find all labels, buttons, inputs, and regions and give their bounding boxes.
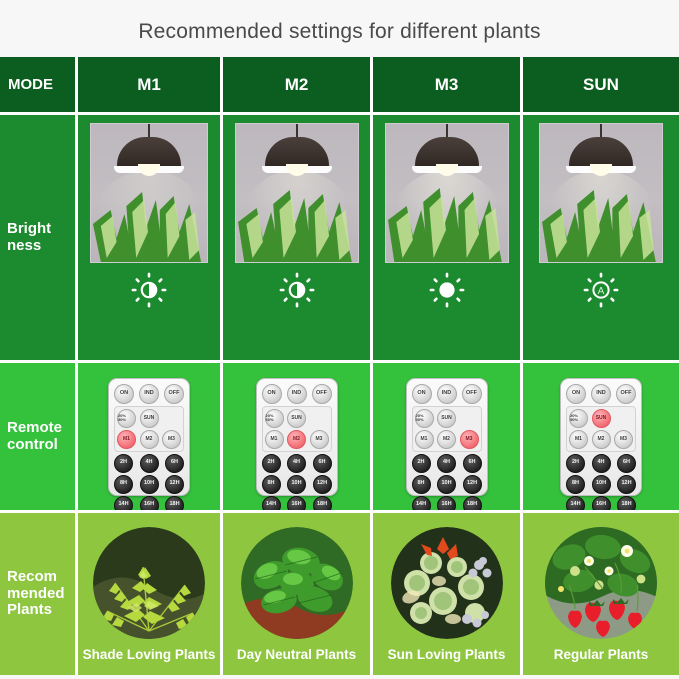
recommended-label-line1: Recom [7, 568, 57, 585]
remote-mode-row: M1 M2 M3 [569, 430, 633, 449]
plant-label-m2: Day Neutral Plants [237, 647, 356, 662]
lamp-cord-icon [600, 124, 602, 138]
remote-timer-row-1: 2H 4H 6H [566, 454, 636, 473]
row-label-brightness: Bright ness [0, 115, 78, 363]
table-header-sun: SUN [523, 57, 679, 115]
remote-power-row: ON IND OFF [114, 384, 184, 404]
remote-m3-button[interactable]: M3 [310, 430, 329, 449]
plant-leaves-illustration [91, 180, 207, 262]
remote-mode-panel: 20% 50% SUN M1 M2 M3 [566, 406, 636, 452]
table-header-m3: M3 [373, 57, 523, 115]
remote-timer-10h[interactable]: 10H [287, 475, 306, 494]
brightness-medium-icon [277, 270, 317, 310]
settings-table: MODE M1 M2 M3 SUN Bright ness [0, 57, 679, 675]
remote-timer-18h[interactable]: 18H [313, 496, 332, 514]
remote-m3-button[interactable]: M3 [460, 430, 479, 449]
recommended-label-line2: mended [7, 585, 65, 602]
remote-mode-row: M1 M2 M3 [415, 430, 479, 449]
remote-timer-row-3: 14H 16H 18H [566, 496, 636, 514]
remote-sun-button[interactable]: SUN [592, 409, 611, 428]
remote-cell-sun: ON IND OFF 20% 50% SUN M1 M2 M [523, 363, 679, 513]
succulents-illustration [391, 527, 503, 639]
header-mode-m1: M1 [78, 57, 220, 112]
remote-timer-row-2: 8H 10H 12H [114, 475, 184, 494]
remote-timer-2h[interactable]: 2H [262, 454, 281, 473]
table-header-mode-cell: MODE [0, 57, 78, 115]
remote-on-button[interactable]: ON [412, 384, 432, 404]
remote-m2-button[interactable]: M2 [437, 430, 456, 449]
brightness-low-icon [129, 270, 169, 310]
remote-timer-12h[interactable]: 12H [463, 475, 482, 494]
plant-leaves-illustration [386, 180, 508, 262]
remote-timer-12h[interactable]: 12H [165, 475, 184, 494]
plant-cell-sun: Regular Plants [523, 513, 679, 675]
fern-illustration [93, 527, 205, 639]
remote-ind-button[interactable]: IND [287, 384, 307, 404]
remote-on-button[interactable]: ON [114, 384, 134, 404]
remote-timer-4h[interactable]: 4H [592, 454, 611, 473]
remote-sun-button[interactable]: SUN [287, 409, 306, 428]
remote-timer-2h[interactable]: 2H [566, 454, 585, 473]
remote-dim-button[interactable]: 20% 50% [415, 409, 434, 428]
remote-off-button[interactable]: OFF [616, 384, 636, 404]
lamp-cord-icon [296, 124, 298, 138]
remote-timer-14h[interactable]: 14H [114, 496, 133, 514]
brightness-cell-m3 [373, 115, 523, 363]
plant-photo-shade-loving [93, 527, 205, 639]
remote-timer-row-3: 14H 16H 18H [412, 496, 482, 514]
remote-ind-button[interactable]: IND [139, 384, 159, 404]
remote-off-button[interactable]: OFF [164, 384, 184, 404]
plant-photo-regular [545, 527, 657, 639]
remote-m3-button[interactable]: M3 [614, 430, 633, 449]
remote-dim-button[interactable]: 20% 50% [569, 409, 588, 428]
remote-timer-row-1: 2H 4H 6H [262, 454, 332, 473]
remote-timer-16h[interactable]: 16H [140, 496, 159, 514]
remote-m2-button[interactable]: M2 [592, 430, 611, 449]
remote-timer-18h[interactable]: 18H [617, 496, 636, 514]
brightness-cell-sun: A [523, 115, 679, 363]
remote-m3-button[interactable]: M3 [162, 430, 181, 449]
remote-off-button[interactable]: OFF [462, 384, 482, 404]
remote-timer-12h[interactable]: 12H [313, 475, 332, 494]
brightness-cell-m1 [78, 115, 223, 363]
remote-power-row: ON IND OFF [262, 384, 332, 404]
remote-on-button[interactable]: ON [262, 384, 282, 404]
remote-dim-button[interactable]: 20% 50% [117, 409, 136, 428]
remote-timer-row-2: 8H 10H 12H [262, 475, 332, 494]
header-mode-m2: M2 [223, 57, 370, 112]
remote-timer-row-3: 14H 16H 18H [114, 496, 184, 514]
header-mode-sun: SUN [523, 57, 679, 112]
remote-timer-row-1: 2H 4H 6H [114, 454, 184, 473]
remote-timer-6h[interactable]: 6H [165, 454, 184, 473]
remote-power-row: ON IND OFF [412, 384, 482, 404]
lamp-cord-icon [148, 124, 150, 138]
remote-timer-10h[interactable]: 10H [592, 475, 611, 494]
remote-timer-4h[interactable]: 4H [437, 454, 456, 473]
remote-mode-panel: 20% 50% SUN M1 M2 M3 [262, 406, 332, 452]
remote-off-button[interactable]: OFF [312, 384, 332, 404]
remote-timer-8h[interactable]: 8H [566, 475, 585, 494]
remote-m1-button[interactable]: M1 [415, 430, 434, 449]
remote-mode-panel: 20% 50% SUN M1 M2 M3 [412, 406, 482, 452]
remote-timer-6h[interactable]: 6H [313, 454, 332, 473]
strawberries-illustration [545, 527, 657, 639]
remote-control-sun[interactable]: ON IND OFF 20% 50% SUN M1 M2 M [560, 378, 642, 496]
remote-m2-button[interactable]: M2 [287, 430, 306, 449]
auto-letter: A [598, 286, 605, 297]
lamp-plant-photo-sun [539, 123, 663, 263]
plant-label-m1: Shade Loving Plants [83, 647, 216, 662]
plant-cell-m3: Sun Loving Plants [373, 513, 523, 675]
row-label-remote: Remote control [0, 363, 78, 513]
remote-cell-m1: ON IND OFF 20% 50% SUN M1 M2 M [78, 363, 223, 513]
remote-m1-button[interactable]: M1 [117, 430, 136, 449]
brightness-label-line1: Bright [7, 220, 51, 237]
remote-timer-row-2: 8H 10H 12H [412, 475, 482, 494]
remote-timer-14h[interactable]: 14H [412, 496, 431, 514]
remote-control-m3[interactable]: ON IND OFF 20% 50% SUN M1 M2 M [406, 378, 488, 496]
remote-control-m1[interactable]: ON IND OFF 20% 50% SUN M1 M2 M [108, 378, 190, 496]
table-header-m2: M2 [223, 57, 373, 115]
page-title: Recommended settings for different plant… [0, 20, 679, 44]
remote-mode-row: M1 M2 M3 [117, 430, 181, 449]
remote-dim-sun-row: 20% 50% SUN [415, 409, 479, 428]
remote-label-line1: Remote [7, 419, 62, 436]
remote-dim-button[interactable]: 20% 50% [265, 409, 284, 428]
remote-label-line2: control [7, 436, 58, 453]
brightness-label-line2: ness [7, 237, 41, 254]
remote-timer-row-2: 8H 10H 12H [566, 475, 636, 494]
remote-timer-16h[interactable]: 16H [287, 496, 306, 514]
plant-cell-m1: Shade Loving Plants [78, 513, 223, 675]
plant-leaves-illustration [236, 180, 358, 262]
brightness-auto-icon: A [581, 270, 621, 310]
brightness-cell-m2 [223, 115, 373, 363]
leafy-greens-illustration [241, 527, 353, 639]
remote-ind-button[interactable]: IND [437, 384, 457, 404]
remote-timer-10h[interactable]: 10H [140, 475, 159, 494]
plant-leaves-illustration [540, 180, 662, 262]
remote-label: Remote control [0, 363, 75, 510]
remote-timer-row-3: 14H 16H 18H [262, 496, 332, 514]
remote-timer-4h[interactable]: 4H [140, 454, 159, 473]
remote-dim-sun-row: 20% 50% SUN [117, 409, 181, 428]
brightness-label: Bright ness [0, 115, 75, 360]
remote-timer-14h[interactable]: 14H [262, 496, 281, 514]
recommended-plants-label: Recom mended Plants [0, 513, 75, 675]
remote-control-m2[interactable]: ON IND OFF 20% 50% SUN M1 M2 M [256, 378, 338, 496]
remote-dim-sun-row: 20% 50% SUN [265, 409, 329, 428]
plant-label-sun: Regular Plants [554, 647, 649, 662]
remote-cell-m3: ON IND OFF 20% 50% SUN M1 M2 M [373, 363, 523, 513]
remote-timer-8h[interactable]: 8H [412, 475, 431, 494]
remote-m1-button[interactable]: M1 [569, 430, 588, 449]
remote-mode-panel: 20% 50% SUN M1 M2 M3 [114, 406, 184, 452]
remote-timer-12h[interactable]: 12H [617, 475, 636, 494]
row-label-recommended-plants: Recom mended Plants [0, 513, 78, 675]
remote-timer-16h[interactable]: 16H [592, 496, 611, 514]
remote-timer-row-1: 2H 4H 6H [412, 454, 482, 473]
remote-timer-6h[interactable]: 6H [463, 454, 482, 473]
remote-timer-14h[interactable]: 14H [566, 496, 585, 514]
recommended-label-line3: Plants [7, 601, 52, 618]
lamp-cord-icon [446, 124, 448, 138]
plant-label-m3: Sun Loving Plants [388, 647, 506, 662]
remote-timer-18h[interactable]: 18H [463, 496, 482, 514]
remote-timer-4h[interactable]: 4H [287, 454, 306, 473]
header-mode-m3: M3 [373, 57, 520, 112]
header-mode-label: MODE [0, 57, 75, 112]
lamp-plant-photo-m3 [385, 123, 509, 263]
remote-sun-button[interactable]: SUN [140, 409, 159, 428]
brightness-high-icon [427, 270, 467, 310]
remote-cell-m2: ON IND OFF 20% 50% SUN M1 M2 M [223, 363, 373, 513]
remote-timer-2h[interactable]: 2H [412, 454, 431, 473]
remote-timer-2h[interactable]: 2H [114, 454, 133, 473]
remote-sun-button[interactable]: SUN [437, 409, 456, 428]
remote-dim-sun-row: 20% 50% SUN [569, 409, 633, 428]
remote-timer-8h[interactable]: 8H [114, 475, 133, 494]
infographic-page: Recommended settings for different plant… [0, 0, 679, 679]
lamp-plant-photo-m1 [90, 123, 208, 263]
remote-timer-6h[interactable]: 6H [617, 454, 636, 473]
lamp-plant-photo-m2 [235, 123, 359, 263]
remote-timer-8h[interactable]: 8H [262, 475, 281, 494]
remote-m1-button[interactable]: M1 [265, 430, 284, 449]
remote-m2-button[interactable]: M2 [140, 430, 159, 449]
plant-photo-sun-loving [391, 527, 503, 639]
table-header-m1: M1 [78, 57, 223, 115]
remote-mode-row: M1 M2 M3 [265, 430, 329, 449]
plant-cell-m2: Day Neutral Plants [223, 513, 373, 675]
remote-timer-18h[interactable]: 18H [165, 496, 184, 514]
plant-photo-day-neutral [241, 527, 353, 639]
remote-power-row: ON IND OFF [566, 384, 636, 404]
remote-timer-10h[interactable]: 10H [437, 475, 456, 494]
remote-timer-16h[interactable]: 16H [437, 496, 456, 514]
remote-ind-button[interactable]: IND [591, 384, 611, 404]
remote-on-button[interactable]: ON [566, 384, 586, 404]
